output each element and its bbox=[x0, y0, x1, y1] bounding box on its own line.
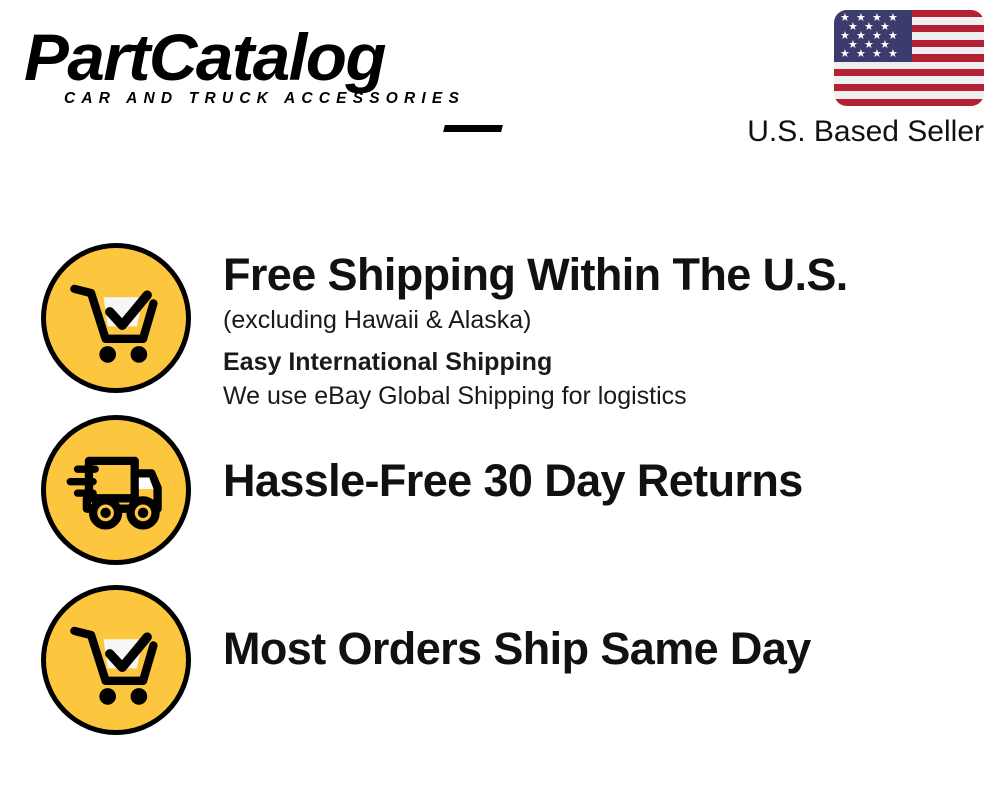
feature-text-block: Free Shipping Within The U.S. (excluding… bbox=[223, 243, 1000, 413]
shopping-cart-check-icon bbox=[41, 585, 191, 735]
us-based-seller-label: U.S. Based Seller bbox=[714, 115, 984, 149]
feature-row: Hassle-Free 30 Day Returns bbox=[0, 415, 1000, 570]
page-header: PartCatalog CAR AND TRUCK ACCESSORIES ★ … bbox=[0, 0, 1000, 175]
us-flag-icon: ★ ★ ★ ★ ★ ★ ★ ★ ★ ★ ★ ★ ★ ★ ★ ★ ★ ★ bbox=[834, 10, 984, 106]
feature-headline: Hassle-Free 30 Day Returns bbox=[223, 455, 1000, 507]
feature-subline-logistics: We use eBay Global Shipping for logistic… bbox=[223, 380, 1000, 413]
brand-logo[interactable]: PartCatalog CAR AND TRUCK ACCESSORIES bbox=[24, 22, 494, 108]
logo-wordmark: PartCatalog bbox=[24, 22, 503, 92]
feature-headline: Free Shipping Within The U.S. bbox=[223, 249, 1000, 301]
feature-headline: Most Orders Ship Same Day bbox=[223, 623, 1000, 675]
feature-subline-international: Easy International Shipping bbox=[223, 346, 1000, 379]
logo-underline-accent bbox=[443, 125, 503, 132]
feature-subline-exclusion: (excluding Hawaii & Alaska) bbox=[223, 304, 1000, 337]
feature-row: Free Shipping Within The U.S. (excluding… bbox=[0, 243, 1000, 408]
us-based-seller-badge: ★ ★ ★ ★ ★ ★ ★ ★ ★ ★ ★ ★ ★ ★ ★ ★ ★ ★ U.S.… bbox=[714, 10, 984, 149]
feature-text-block: Most Orders Ship Same Day bbox=[223, 585, 1000, 675]
feature-text-block: Hassle-Free 30 Day Returns bbox=[223, 415, 1000, 507]
shopping-cart-check-icon bbox=[41, 243, 191, 393]
delivery-truck-icon bbox=[41, 415, 191, 565]
feature-row: Most Orders Ship Same Day bbox=[0, 585, 1000, 740]
